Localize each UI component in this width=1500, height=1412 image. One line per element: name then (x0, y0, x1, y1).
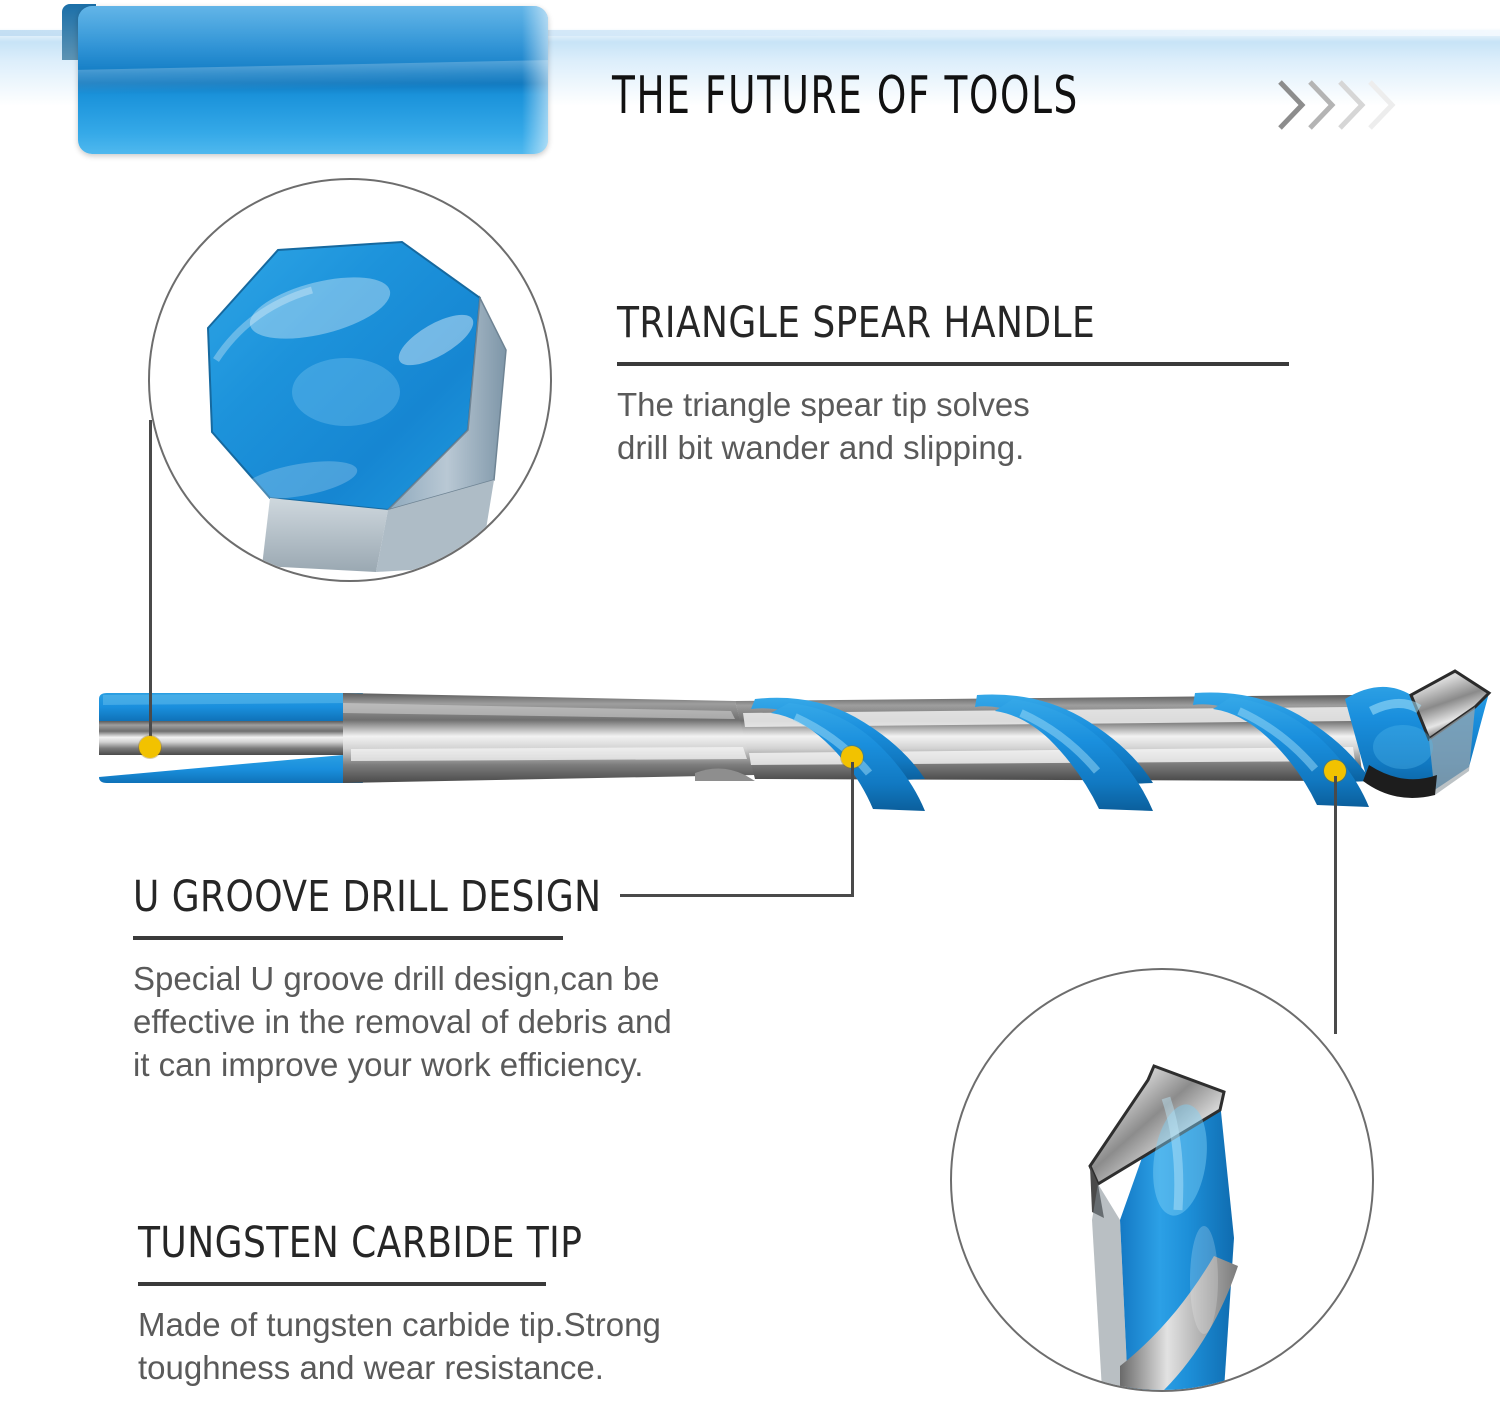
ribbon-edge-highlight (522, 6, 548, 154)
leader-line-carbide-tip (1334, 776, 1337, 1034)
feature-body-line: The triangle spear tip solves (617, 384, 1307, 427)
feature-body-line: it can improve your work efficiency. (133, 1044, 893, 1087)
infographic-canvas: THE FUTURE OF TOOLS (0, 0, 1500, 1412)
feature-tungsten-carbide-tip: TUNGSTEN CARBIDE TIP Made of tungsten ca… (138, 1218, 898, 1390)
feature-body-line: Special U groove drill design,can be (133, 958, 893, 1001)
feature-underline (617, 362, 1289, 366)
drill-bit-illustration (95, 655, 1495, 820)
feature-body-line: Made of tungsten carbide tip.Strong (138, 1304, 898, 1347)
header-ribbon-badge (78, 6, 548, 154)
feature-title: TUNGSTEN CARBIDE TIP (138, 1218, 845, 1268)
callout-dot-handle (139, 736, 161, 758)
tip-closeup-photo (950, 968, 1374, 1392)
feature-body-line: effective in the removal of debris and (133, 1001, 893, 1044)
handle-closeup-photo (148, 178, 552, 582)
feature-title: TRIANGLE SPEAR HANDLE (617, 298, 1259, 348)
feature-body-line: drill bit wander and slipping. (617, 427, 1307, 470)
feature-body-line: toughness and wear resistance. (138, 1347, 898, 1390)
feature-body: The triangle spear tip solves drill bit … (617, 384, 1307, 470)
feature-underline (138, 1282, 546, 1286)
feature-underline (133, 936, 563, 940)
leader-line-handle (149, 420, 152, 748)
feature-triangle-spear-handle: TRIANGLE SPEAR HANDLE The triangle spear… (617, 298, 1307, 470)
feature-body: Made of tungsten carbide tip.Strong toug… (138, 1304, 898, 1390)
feature-body: Special U groove drill design,can be eff… (133, 958, 893, 1087)
feature-u-groove-drill-design: U GROOVE DRILL DESIGN Special U groove d… (133, 872, 893, 1087)
chevron-right-icon (1276, 74, 1406, 136)
page-title: THE FUTURE OF TOOLS (612, 66, 1079, 126)
feature-title: U GROOVE DRILL DESIGN (133, 872, 840, 922)
